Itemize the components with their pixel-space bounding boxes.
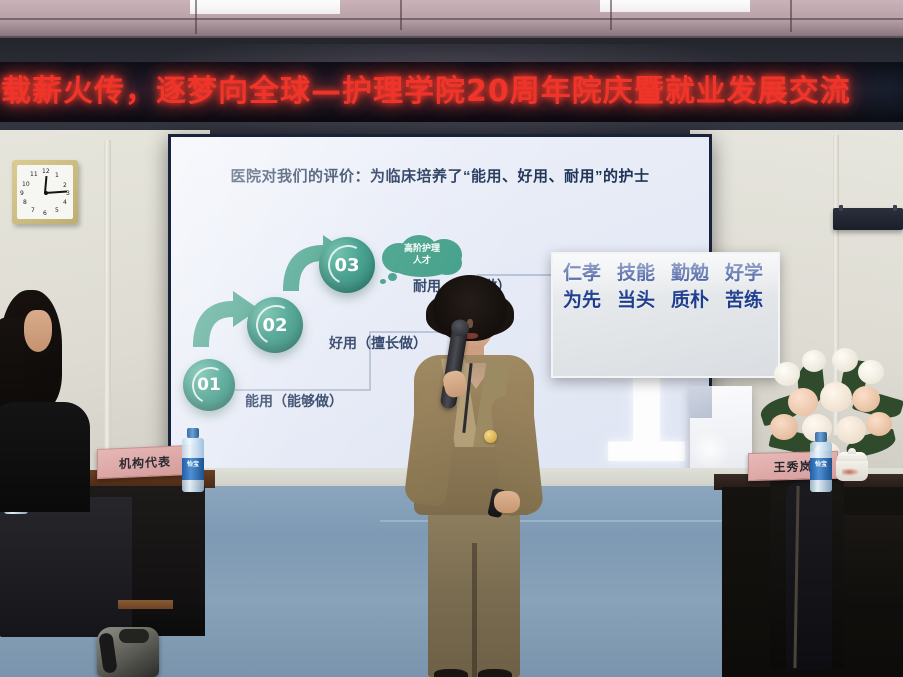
banner-text: 十载薪火传，逐梦向全球—护理学院20周年院庆暨就业发展交流 [0,66,903,118]
wall-speaker-box [833,208,903,230]
clock-number: 6 [43,210,47,217]
step-number: 01 [183,359,235,411]
presenter-hand-right [494,491,520,513]
screen-glare [690,430,730,470]
led-banner: 十载薪火传，逐梦向全球—护理学院20周年院庆暨就业发展交流 [0,62,903,122]
step-circle-03: 03 [319,237,375,293]
clock-number: 11 [30,171,38,178]
slide-title: 医院对我们的评价：为临床培养了“能用、好用、耐用”的护士 [171,165,709,186]
clock-number: 2 [63,182,67,189]
wall-pipe [104,140,111,490]
nameplate-right-text: 王秀岚 [773,457,812,475]
cloud-bubble: 高阶护理 人才 [376,233,468,279]
clock-minute-hand [45,190,67,193]
bottle-label-text: 怡宝 [810,459,832,468]
step-number: 03 [319,237,375,293]
clock-number: 4 [63,199,67,206]
wall-clock: 12 1 2 3 4 5 6 7 8 9 10 11 [12,160,78,224]
step-circle-02: 02 [247,297,303,353]
water-bottle-left: 怡宝 [182,428,204,492]
clock-face: 12 1 2 3 4 5 6 7 8 9 10 11 [17,165,73,219]
attendee-body [0,402,90,512]
bottle-label-text: 怡宝 [182,459,204,468]
seated-attendee [0,290,82,490]
clock-number: 5 [55,207,59,214]
nameplate-left: 机构代表 [97,445,193,479]
backpack [97,627,159,677]
tea-cup [836,448,868,481]
step-number: 02 [247,297,303,353]
cloud-line-2: 人才 [413,255,431,265]
cloud-line-1: 高阶护理 [404,243,440,253]
presenter-shoe-left [434,669,468,677]
clock-number: 8 [23,199,27,206]
clock-number: 1 [55,172,59,179]
attendee-face [24,310,52,352]
left-desk-shelf [118,600,173,609]
clock-center-pin [44,191,48,195]
step-label-01: 能用（能够做） [245,391,343,411]
clock-number: 10 [22,181,30,188]
presenter-shoe-right [478,669,512,677]
clock-number: 12 [42,168,50,175]
right-desk-side-dark [838,515,903,610]
clock-number: 9 [20,190,24,197]
calligraphy-panel: 好学苦练 勤勉质朴 技能当头 仁孝为先 [551,252,780,378]
left-desk-panel [0,497,132,637]
water-bottle-right: 怡宝 [810,432,832,492]
presenter [396,275,556,677]
clock-number: 7 [31,207,35,214]
nameplate-left-text: 机构代表 [119,452,171,471]
presenter-hair [433,275,507,341]
conference-photo-scene: 十载薪火传，逐梦向全球—护理学院20周年院庆暨就业发展交流 12 1 2 3 4… [0,0,903,677]
lapel-badge [484,430,497,443]
cloud-text: 高阶护理 人才 [376,242,468,266]
step-circle-01: 01 [183,359,235,411]
